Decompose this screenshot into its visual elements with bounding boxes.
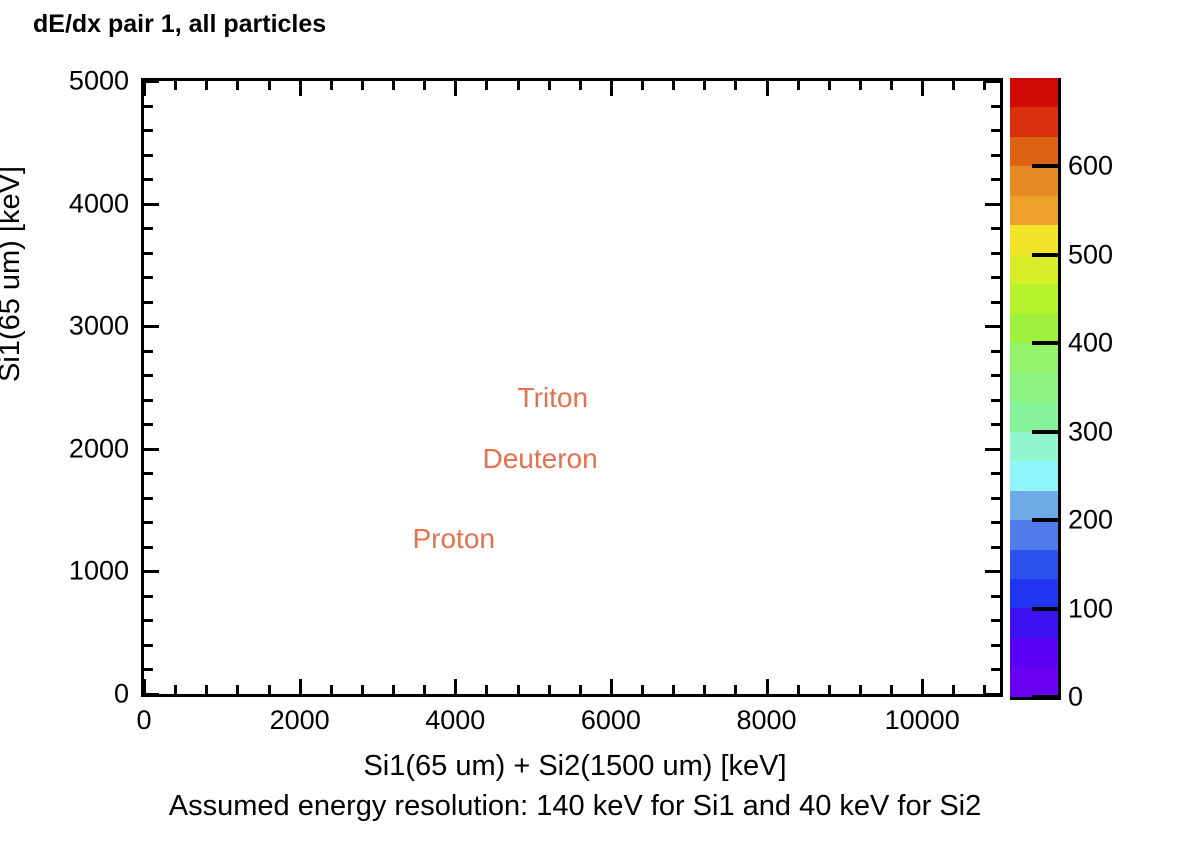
colorbar-band xyxy=(1010,550,1058,579)
x-minor-tick xyxy=(268,685,271,694)
page-title: dE/dx pair 1, all particles xyxy=(33,10,326,39)
y-minor-tick-right xyxy=(991,350,1000,353)
x-minor-tick-top xyxy=(423,81,426,90)
x-minor-tick xyxy=(734,685,737,694)
y-major-tick xyxy=(144,693,159,696)
y-minor-tick xyxy=(144,497,153,500)
annotation-triton: Triton xyxy=(518,382,589,414)
y-minor-tick-right xyxy=(991,521,1000,524)
y-tick-label-3: 3000 xyxy=(69,311,129,342)
x-major-tick-top xyxy=(454,81,457,96)
colorbar-band xyxy=(1010,196,1058,225)
x-tick-label-5: 10000 xyxy=(885,705,960,736)
x-minor-tick-top xyxy=(485,81,488,90)
colorbar-band xyxy=(1010,314,1058,343)
x-minor-tick xyxy=(485,685,488,694)
colorbar-band xyxy=(1010,255,1058,284)
x-minor-tick-top xyxy=(236,81,239,90)
x-minor-tick xyxy=(517,685,520,694)
y-minor-tick xyxy=(144,644,153,647)
y-minor-tick xyxy=(144,129,153,132)
x-minor-tick-top xyxy=(890,81,893,90)
figure-caption: Assumed energy resolution: 140 keV for S… xyxy=(169,790,981,823)
y-major-tick xyxy=(144,570,159,573)
colorbar-tick-5 xyxy=(1032,253,1058,257)
colorbar-band xyxy=(1010,78,1058,107)
colorbar-band xyxy=(1010,608,1058,637)
annotation-proton: Proton xyxy=(412,523,495,555)
y-minor-tick-right xyxy=(991,301,1000,304)
x-major-tick-top xyxy=(143,81,146,96)
x-tick-label-0: 0 xyxy=(136,705,151,736)
y-tick-label-4: 4000 xyxy=(69,188,129,219)
x-minor-tick-top xyxy=(828,81,831,90)
y-minor-tick xyxy=(144,619,153,622)
x-major-tick-top xyxy=(610,81,613,96)
x-tick-label-4: 8000 xyxy=(736,705,796,736)
colorbar-band xyxy=(1010,107,1058,136)
x-minor-tick xyxy=(859,685,862,694)
y-major-tick-right xyxy=(985,693,1000,696)
x-minor-tick-top xyxy=(392,81,395,90)
x-minor-tick xyxy=(672,685,675,694)
x-minor-tick xyxy=(392,685,395,694)
y-major-tick xyxy=(144,80,159,83)
y-minor-tick-right xyxy=(991,546,1000,549)
x-minor-tick-top xyxy=(205,81,208,90)
x-minor-tick-top xyxy=(268,81,271,90)
x-minor-tick xyxy=(236,685,239,694)
y-minor-tick-right xyxy=(991,105,1000,108)
y-minor-tick xyxy=(144,178,153,181)
y-minor-tick xyxy=(144,301,153,304)
y-minor-tick xyxy=(144,521,153,524)
y-minor-tick-right xyxy=(991,129,1000,132)
x-minor-tick xyxy=(703,685,706,694)
x-minor-tick-top xyxy=(672,81,675,90)
x-minor-tick xyxy=(330,685,333,694)
x-major-tick xyxy=(766,679,769,694)
y-minor-tick-right xyxy=(991,595,1000,598)
x-minor-tick xyxy=(174,685,177,694)
y-minor-tick-right xyxy=(991,227,1000,230)
x-major-tick xyxy=(454,679,457,694)
y-major-tick xyxy=(144,448,159,451)
colorbar-band xyxy=(1010,343,1058,372)
x-major-tick xyxy=(610,679,613,694)
colorbar-label-1: 100 xyxy=(1068,593,1113,624)
x-minor-tick xyxy=(890,685,893,694)
x-tick-label-1: 2000 xyxy=(270,705,330,736)
colorbar-label-4: 400 xyxy=(1068,328,1113,359)
y-major-tick-right xyxy=(985,203,1000,206)
y-major-tick-right xyxy=(985,448,1000,451)
x-minor-tick-top xyxy=(548,81,551,90)
x-minor-tick xyxy=(579,685,582,694)
y-minor-tick-right xyxy=(991,374,1000,377)
x-major-tick-top xyxy=(299,81,302,96)
x-minor-tick xyxy=(828,685,831,694)
x-minor-tick-top xyxy=(361,81,364,90)
y-minor-tick-right xyxy=(991,252,1000,255)
y-minor-tick-right xyxy=(991,644,1000,647)
x-minor-tick xyxy=(952,685,955,694)
x-minor-tick xyxy=(797,685,800,694)
y-minor-tick xyxy=(144,154,153,157)
x-major-tick-top xyxy=(921,81,924,96)
chart-canvas-root: dE/dx pair 1, all particles 010002000300… xyxy=(0,0,1181,847)
y-tick-label-0: 0 xyxy=(114,679,129,710)
colorbar-label-5: 500 xyxy=(1068,239,1113,270)
y-minor-tick xyxy=(144,276,153,279)
y-major-tick xyxy=(144,325,159,328)
y-minor-tick-right xyxy=(991,154,1000,157)
y-minor-tick-right xyxy=(991,178,1000,181)
y-minor-tick xyxy=(144,423,153,426)
x-minor-tick-top xyxy=(517,81,520,90)
colorbar-tick-6 xyxy=(1032,164,1058,168)
x-minor-tick-top xyxy=(859,81,862,90)
x-minor-tick-top xyxy=(174,81,177,90)
colorbar-band xyxy=(1010,166,1058,195)
x-tick-label-2: 4000 xyxy=(425,705,485,736)
x-minor-tick-top xyxy=(734,81,737,90)
y-minor-tick xyxy=(144,227,153,230)
colorbar-band xyxy=(1010,461,1058,490)
y-minor-tick-right xyxy=(991,472,1000,475)
y-minor-tick xyxy=(144,472,153,475)
colorbar-tick-4 xyxy=(1032,341,1058,345)
x-minor-tick-top xyxy=(952,81,955,90)
colorbar-label-3: 300 xyxy=(1068,416,1113,447)
colorbar-band xyxy=(1010,373,1058,402)
y-minor-tick xyxy=(144,546,153,549)
colorbar-band xyxy=(1010,638,1058,667)
colorbar-band xyxy=(1010,137,1058,166)
colorbar-band xyxy=(1010,491,1058,520)
y-tick-label-1: 1000 xyxy=(69,556,129,587)
y-minor-tick xyxy=(144,668,153,671)
colorbar-label-2: 200 xyxy=(1068,505,1113,536)
colorbar-band xyxy=(1010,579,1058,608)
colorbar-band xyxy=(1010,432,1058,461)
y-minor-tick xyxy=(144,252,153,255)
colorbar-band xyxy=(1010,284,1058,313)
colorbar-label-0: 0 xyxy=(1068,682,1083,713)
x-minor-tick-top xyxy=(330,81,333,90)
y-minor-tick-right xyxy=(991,276,1000,279)
x-minor-tick xyxy=(641,685,644,694)
x-minor-tick xyxy=(423,685,426,694)
colorbar-tick-0 xyxy=(1032,695,1058,699)
y-major-tick xyxy=(144,203,159,206)
colorbar-label-6: 600 xyxy=(1068,151,1113,182)
colorbar-tick-1 xyxy=(1032,607,1058,611)
y-minor-tick xyxy=(144,399,153,402)
colorbar-band xyxy=(1010,402,1058,431)
y-major-tick-right xyxy=(985,325,1000,328)
y-tick-label-5: 5000 xyxy=(69,66,129,97)
y-minor-tick-right xyxy=(991,423,1000,426)
x-major-tick-top xyxy=(766,81,769,96)
y-minor-tick-right xyxy=(991,619,1000,622)
y-minor-tick-right xyxy=(991,497,1000,500)
y-axis-title: Si1(65 um) [keV] xyxy=(0,166,27,382)
x-minor-tick-top xyxy=(797,81,800,90)
y-minor-tick xyxy=(144,374,153,377)
x-axis-title: Si1(65 um) + Si2(1500 um) [keV] xyxy=(363,750,786,783)
y-major-tick-right xyxy=(985,570,1000,573)
x-minor-tick xyxy=(361,685,364,694)
x-minor-tick xyxy=(548,685,551,694)
y-minor-tick xyxy=(144,350,153,353)
x-minor-tick xyxy=(205,685,208,694)
x-minor-tick-top xyxy=(579,81,582,90)
y-minor-tick-right xyxy=(991,399,1000,402)
colorbar-tick-2 xyxy=(1032,518,1058,522)
y-major-tick-right xyxy=(985,80,1000,83)
colorbar-band xyxy=(1010,667,1058,696)
colorbar-band xyxy=(1010,520,1058,549)
annotation-deuteron: Deuteron xyxy=(483,443,598,475)
x-tick-label-3: 6000 xyxy=(581,705,641,736)
y-tick-label-2: 2000 xyxy=(69,433,129,464)
y-minor-tick xyxy=(144,595,153,598)
x-minor-tick-top xyxy=(703,81,706,90)
y-minor-tick xyxy=(144,105,153,108)
x-major-tick xyxy=(299,679,302,694)
y-minor-tick-right xyxy=(991,668,1000,671)
x-major-tick xyxy=(921,679,924,694)
colorbar-tick-3 xyxy=(1032,430,1058,434)
x-minor-tick-top xyxy=(641,81,644,90)
x-major-tick xyxy=(143,679,146,694)
colorbar-band xyxy=(1010,225,1058,254)
